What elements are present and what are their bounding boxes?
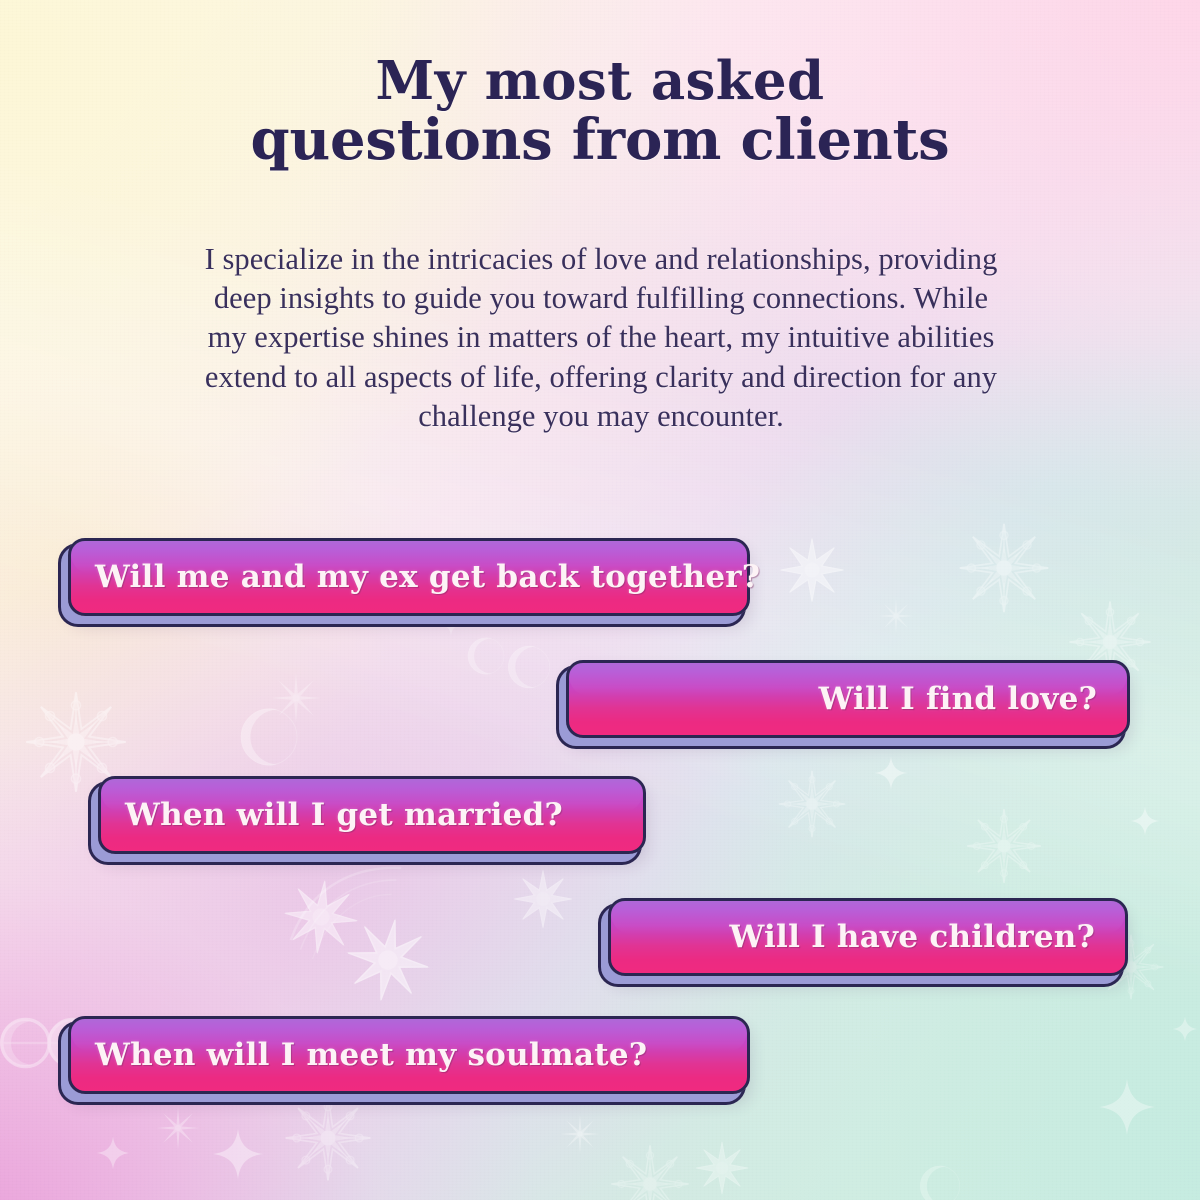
page-title-line-2: questions from clients xyxy=(0,110,1200,172)
intro-paragraph: I specialize in the intricacies of love … xyxy=(196,240,1006,436)
question-label-1: Will me and my ex get back together? xyxy=(71,559,747,595)
poster-canvas: My most asked questions from clients I s… xyxy=(0,0,1200,1200)
question-pill-1[interactable]: Will me and my ex get back together? xyxy=(68,538,750,616)
page-title: My most asked questions from clients xyxy=(0,52,1200,172)
question-pill-5[interactable]: When will I meet my soulmate? xyxy=(68,1016,750,1094)
question-label-3: When will I get married? xyxy=(101,797,643,833)
question-label-4: Will I have children? xyxy=(611,919,1125,955)
question-label-2: Will I find love? xyxy=(569,681,1127,717)
question-pill-3[interactable]: When will I get married? xyxy=(98,776,646,854)
question-label-5: When will I meet my soulmate? xyxy=(71,1037,747,1073)
question-pill-4[interactable]: Will I have children? xyxy=(608,898,1128,976)
page-title-line-1: My most asked xyxy=(0,52,1200,110)
question-pill-2[interactable]: Will I find love? xyxy=(566,660,1130,738)
